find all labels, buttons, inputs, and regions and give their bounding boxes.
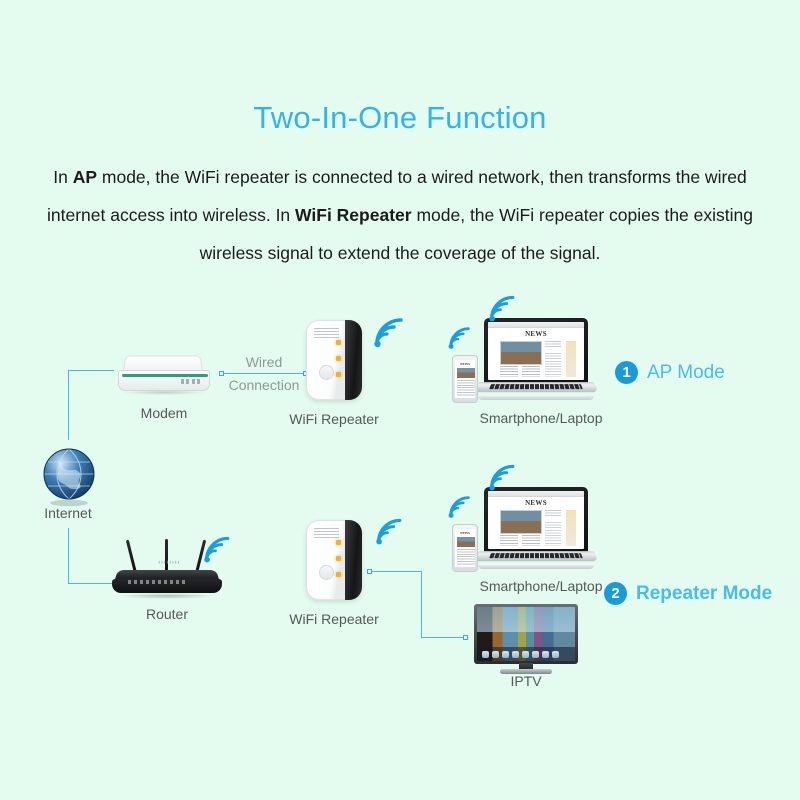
router-logo — [159, 561, 181, 564]
intro-part-1: In — [53, 167, 72, 187]
phone-frame-2: NEWS — [452, 524, 478, 572]
sidebar-block — [566, 341, 576, 377]
repeater-brand-mark — [314, 328, 339, 338]
laptop-masthead-2: NEWS — [488, 499, 584, 507]
router-label: Router — [117, 606, 217, 622]
connector-repeater-to-iptv-seg1 — [370, 571, 422, 572]
router-antenna-left — [126, 540, 137, 574]
repeater-dark-panel-2 — [345, 520, 362, 600]
modem-body — [118, 370, 210, 391]
wifi-signal-icon-laptop-repeater — [487, 462, 521, 492]
article-column-1-b — [500, 535, 518, 546]
article-column-4-b — [545, 522, 561, 546]
client-label-repeater: Smartphone/Laptop — [466, 578, 616, 594]
laptop-screen-2: NEWS — [488, 491, 584, 549]
smartphone-device-ap: NEWS — [452, 355, 478, 403]
repeater-brand-mark-2 — [314, 528, 339, 538]
wifi-signal-icon-repeater-ap — [372, 315, 410, 349]
connector-repeater-to-iptv-seg3 — [421, 637, 466, 638]
wired-connection-label-line1: Wired — [214, 354, 314, 370]
phone-article-photo-2 — [457, 537, 475, 547]
smartphone-device-repeater: NEWS — [452, 524, 478, 572]
tv-bezel — [474, 604, 578, 664]
tv-panel — [477, 607, 575, 661]
phone-screen: NEWS — [455, 360, 475, 398]
mode-number-1: 1 — [615, 361, 638, 384]
wifi-signal-icon-phone-repeater — [447, 494, 475, 519]
router-base — [112, 579, 222, 593]
modem-shadow — [122, 390, 206, 395]
connector-internet-to-router-vertical — [68, 528, 69, 584]
article-column-2 — [522, 366, 540, 377]
article-column-3 — [545, 341, 561, 349]
laptop-screen: NEWS — [488, 322, 584, 380]
connector-endpoint-repeater2-side — [367, 569, 372, 574]
article-column-1 — [500, 366, 518, 377]
client-label-ap: Smartphone/Laptop — [466, 410, 616, 426]
laptop-lid: NEWS — [484, 318, 588, 384]
laptop-base-edge — [478, 396, 594, 400]
phone-article-text — [457, 380, 475, 396]
repeater-label-repeater: WiFi Repeater — [284, 611, 384, 627]
repeater-wps-button — [319, 365, 334, 380]
connector-repeater-to-iptv-seg2 — [421, 571, 422, 638]
article-column-3-b — [545, 510, 561, 518]
infographic-page: Two-In-One Function In AP mode, the WiFi… — [0, 0, 800, 800]
laptop-device-repeater: NEWS — [476, 487, 596, 573]
connector-endpoint-modem-side — [219, 371, 224, 376]
wifi-repeater-device-ap — [306, 320, 362, 400]
laptop-keys-2 — [489, 553, 583, 558]
mode-label-ap: AP Mode — [647, 362, 725, 384]
wifi-repeater-device-repeater — [306, 520, 362, 600]
connector-endpoint-iptv-side — [463, 635, 468, 640]
modem-label: Modem — [114, 405, 214, 421]
wifi-signal-icon-repeater-2 — [374, 516, 408, 546]
phone-frame: NEWS — [452, 355, 478, 403]
repeater-wps-button-2 — [319, 565, 334, 580]
repeater-dark-panel — [345, 320, 362, 400]
wired-connection-label-line2: Connection — [214, 377, 314, 393]
intro-bold-ap: AP — [73, 167, 97, 187]
connector-internet-to-modem-horizontal — [68, 370, 114, 371]
mode-number-2: 2 — [604, 582, 627, 605]
modem-leds — [181, 379, 201, 384]
connector-internet-to-modem-vertical — [68, 370, 69, 440]
wifi-signal-icon-phone-ap — [447, 325, 475, 350]
phone-screen-2: NEWS — [455, 529, 475, 567]
laptop-keys — [489, 384, 583, 389]
laptop-masthead: NEWS — [488, 330, 584, 338]
phone-masthead: NEWS — [455, 362, 475, 366]
internet-label: Internet — [18, 505, 118, 521]
sidebar-block-2 — [566, 510, 576, 546]
repeater-status-leds-2 — [336, 540, 341, 588]
iptv-device — [474, 604, 578, 676]
phone-masthead-2: NEWS — [455, 531, 475, 535]
laptop-device-ap: NEWS — [476, 318, 596, 404]
phone-article-photo — [457, 368, 475, 378]
router-port-leds — [128, 580, 185, 584]
connector-internet-to-router-horizontal — [68, 583, 114, 584]
laptop-keyboard-deck-2 — [473, 551, 598, 561]
connector-wired-modem-to-repeater — [222, 373, 306, 374]
modem-stripe — [122, 374, 208, 377]
wifi-signal-icon-router — [202, 534, 236, 564]
repeater-status-leds — [336, 340, 341, 388]
intro-bold-repeater: WiFi Repeater — [295, 205, 412, 225]
repeater-label-ap: WiFi Repeater — [284, 411, 384, 427]
router-shadow — [118, 593, 216, 599]
article-photo-2 — [500, 510, 542, 534]
intro-paragraph: In AP mode, the WiFi repeater is connect… — [24, 158, 776, 272]
internet-globe-icon — [38, 446, 100, 508]
laptop-keyboard-deck — [473, 382, 598, 392]
article-column-2-b — [522, 535, 540, 546]
iptv-label: IPTV — [476, 673, 576, 689]
article-column-4 — [545, 353, 561, 377]
article-photo — [500, 341, 542, 365]
laptop-base-edge-2 — [478, 565, 594, 569]
mode-badge-ap: 1 AP Mode — [615, 361, 725, 384]
wifi-signal-icon-laptop-ap — [487, 293, 521, 323]
tv-sky-backdrop — [477, 607, 575, 632]
tv-app-dock — [477, 647, 575, 661]
page-title: Two-In-One Function — [0, 100, 800, 136]
mode-badge-repeater: 2 Repeater Mode — [604, 582, 772, 605]
laptop-lid-2: NEWS — [484, 487, 588, 553]
router-antenna-center — [165, 539, 168, 573]
phone-article-text-2 — [457, 549, 475, 565]
mode-label-repeater: Repeater Mode — [636, 583, 772, 605]
